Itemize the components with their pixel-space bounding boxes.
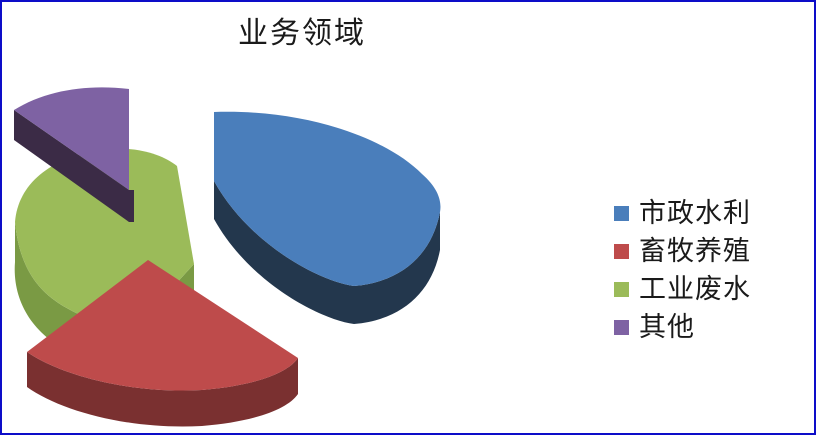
legend-label: 畜牧养殖 [639, 236, 751, 266]
legend-swatch-icon [614, 320, 629, 335]
legend-swatch-icon [614, 244, 629, 259]
legend-label: 其他 [639, 312, 695, 342]
legend-item-qita[interactable]: 其他 [614, 308, 804, 346]
legend-label: 工业废水 [639, 274, 751, 304]
pie-slice-shizhengshuili[interactable] [214, 112, 440, 324]
pie-plot-area [2, 62, 602, 432]
legend-swatch-icon [614, 282, 629, 297]
chart-legend: 市政水利 畜牧养殖 工业废水 其他 [614, 194, 804, 346]
pie-chart-svg [2, 62, 602, 432]
legend-swatch-icon [614, 206, 629, 221]
chart-title: 业务领域 [2, 16, 602, 52]
pie-slice-qita-side-right [129, 190, 134, 222]
legend-item-xumuyangzhi[interactable]: 畜牧养殖 [614, 232, 804, 270]
legend-label: 市政水利 [639, 198, 751, 228]
legend-item-shizhengshuili[interactable]: 市政水利 [614, 194, 804, 232]
legend-item-gongyefeishui[interactable]: 工业废水 [614, 270, 804, 308]
chart-container: 业务领域 [0, 0, 816, 435]
